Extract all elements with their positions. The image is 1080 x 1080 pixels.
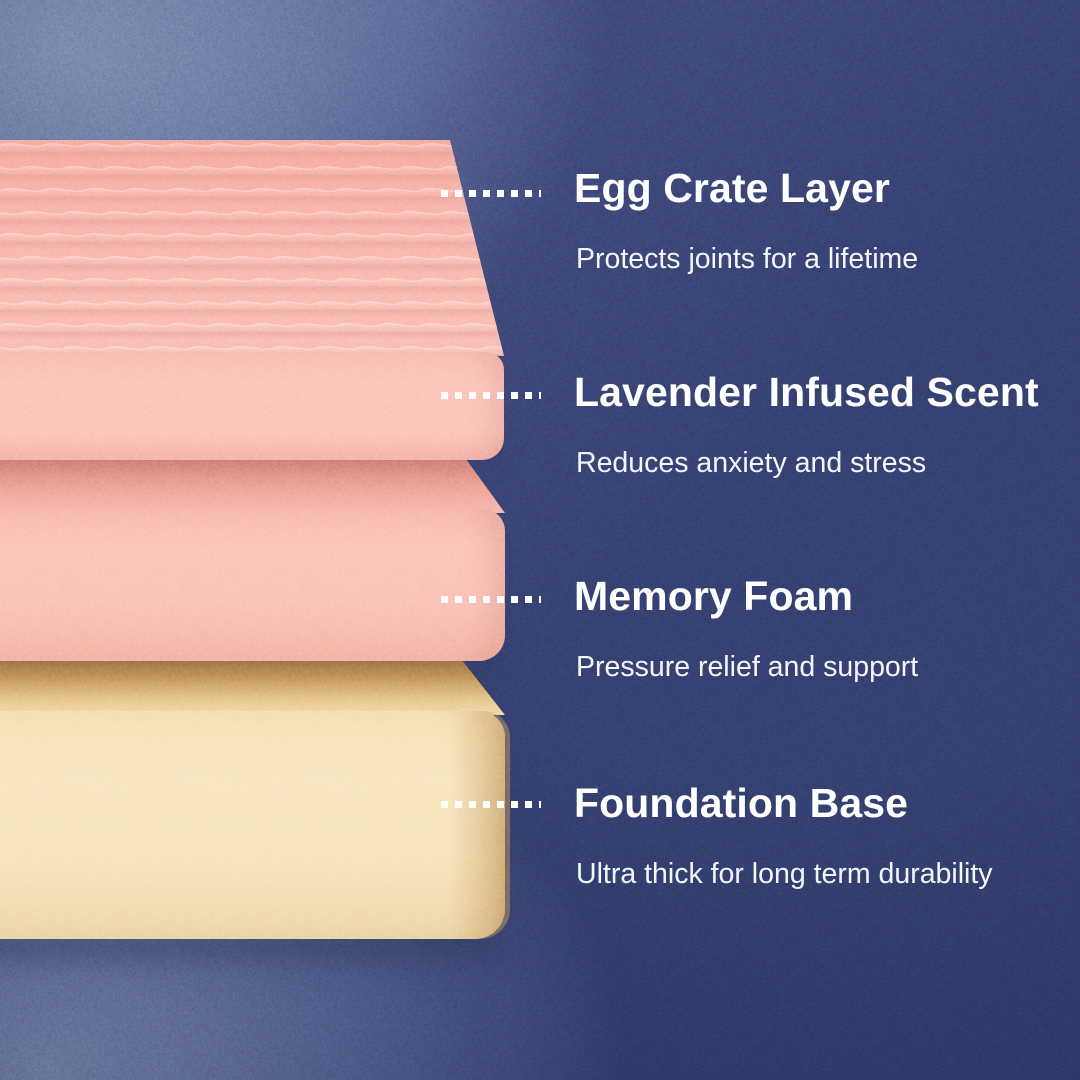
annotation-subtitle: Pressure relief and support [576, 653, 918, 682]
memory-foam-front-face [0, 509, 505, 661]
leader-line-icon [441, 596, 541, 603]
leader-line-icon [441, 190, 541, 197]
foundation-right-shading [450, 711, 510, 939]
annotation-subtitle: Ultra thick for long term durability [576, 860, 993, 889]
annotation-title: Memory Foam [574, 576, 853, 617]
foundation-base-slab [0, 645, 510, 945]
leader-line-icon [441, 801, 541, 808]
memory-foam-slab [0, 437, 510, 672]
mattress-layer-stack [0, 0, 510, 1080]
annotation-title: Egg Crate Layer [574, 168, 890, 209]
egg-crate-foam-slab [0, 140, 510, 470]
infographic-canvas: Egg Crate Layer Protects joints for a li… [0, 0, 1080, 1080]
egg-crate-top-surface [0, 140, 510, 358]
annotation-subtitle: Reduces anxiety and stress [576, 449, 926, 478]
egg-crate-front-face [0, 352, 504, 460]
annotation-title: Foundation Base [574, 783, 908, 824]
leader-line-icon [441, 392, 541, 399]
annotation-title: Lavender Infused Scent [574, 372, 1039, 413]
annotation-subtitle: Protects joints for a lifetime [576, 245, 918, 274]
foundation-front-face [0, 711, 505, 939]
